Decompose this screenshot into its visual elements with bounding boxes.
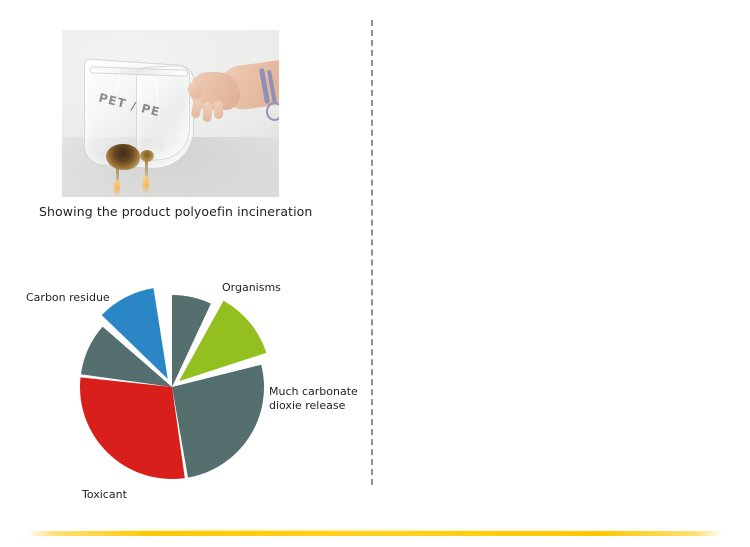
left-label-organisms: Organisms (222, 281, 281, 295)
polyolefin-incineration-photo: PET / PE (62, 30, 279, 197)
bottom-accent-rule (26, 531, 724, 536)
pie-slice-toxicant[interactable] (80, 377, 185, 479)
burn-hole-large (106, 144, 140, 170)
left-label-carbon-residue: Carbon residue (26, 291, 110, 305)
bottom-accent-rule-highlight (60, 529, 680, 531)
finger-3 (214, 101, 224, 119)
flame-2 (143, 176, 149, 194)
left-pie-slices (80, 288, 266, 479)
pie-slice-much-carbonate-dioxie-release[interactable] (172, 365, 264, 478)
finger-2 (202, 102, 212, 123)
bracelet-ring (266, 102, 279, 121)
left-photo-caption: Showing the product polyoefin incinerati… (39, 203, 359, 221)
right-panel: Showing the product afrer the incinerati… (375, 0, 750, 547)
left-label-toxicant: Toxicant (82, 488, 127, 502)
polyolefin-incineration-pie: Organisms Carbon residue Much carbonate … (10, 268, 375, 513)
hand-and-arm-left (186, 62, 279, 132)
finger-1 (191, 99, 203, 118)
flame-1 (114, 180, 120, 196)
left-panel: PET / PE Showing the produ (0, 0, 375, 547)
plastic-bag-polyolefin: PET / PE (84, 62, 196, 182)
slide-canvas: PET / PE Showing the produ (0, 0, 750, 547)
left-label-much-carbonate: Much carbonate dioxie release (269, 385, 358, 413)
